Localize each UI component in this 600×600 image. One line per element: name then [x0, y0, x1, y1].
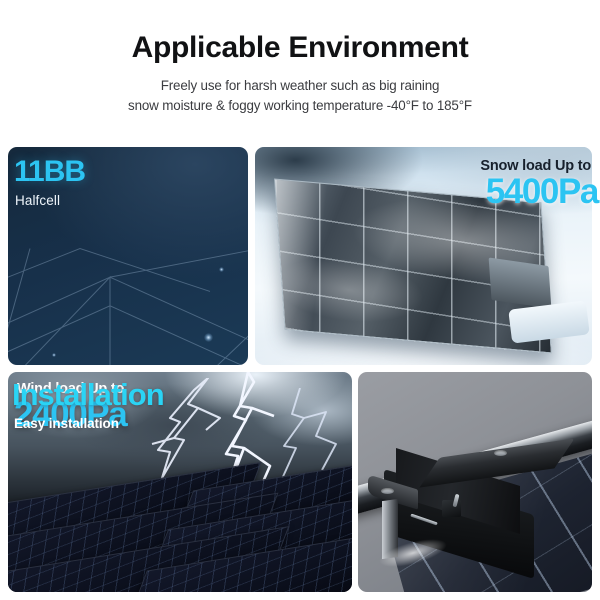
panel-side-edge: [489, 257, 552, 308]
header: Applicable Environment Freely use for ha…: [0, 0, 600, 116]
subtitle-line-2: snow moisture & foggy working temperatur…: [0, 96, 600, 116]
product-feature-image: Applicable Environment Freely use for ha…: [0, 0, 600, 600]
installation-subhead: Easy installation: [14, 416, 119, 431]
halfcell-subhead: Halfcell: [15, 193, 60, 208]
glow-dot: [52, 353, 56, 357]
glow-dot: [219, 267, 224, 272]
tech-grid-decoration: [8, 239, 248, 365]
glow-dot: [204, 333, 213, 342]
page-title: Applicable Environment: [0, 33, 600, 63]
installation-panel: [358, 372, 592, 592]
halfcell-headline: 11BB: [14, 157, 85, 187]
bolt-cap: [442, 500, 461, 517]
bracket-mounting-hole: [381, 488, 394, 494]
bracket-mounting-hole: [494, 450, 507, 456]
page-subtitle: Freely use for harsh weather such as big…: [0, 76, 600, 116]
snow-load-headline: 5400Pa: [486, 174, 598, 209]
subtitle-line-1: Freely use for harsh weather such as big…: [0, 76, 600, 96]
solar-panel-array: [8, 478, 352, 592]
installation-headline: Installation: [12, 379, 164, 410]
